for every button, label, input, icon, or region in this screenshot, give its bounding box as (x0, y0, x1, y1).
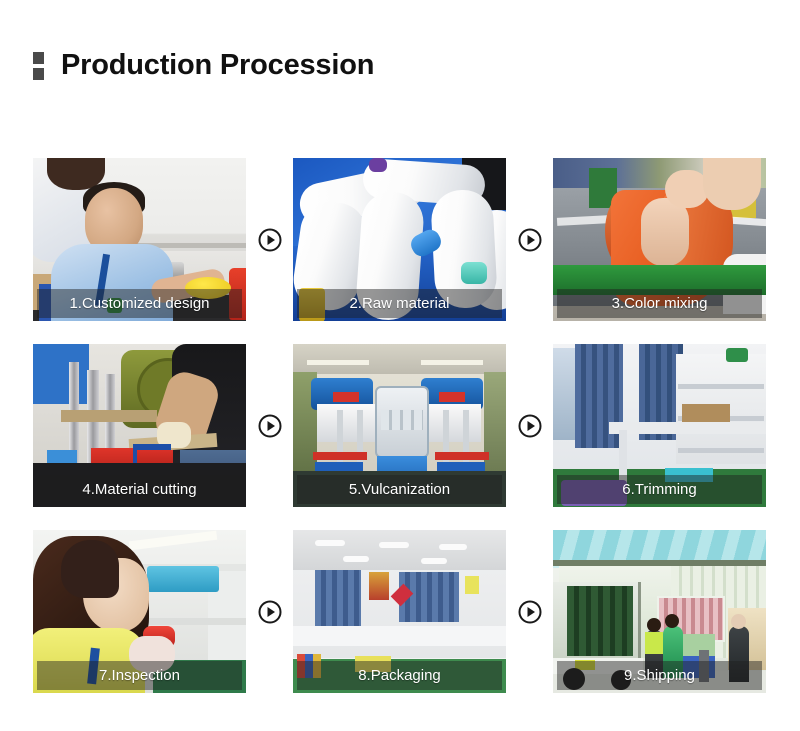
production-process-page: Production Procession 1.Customized desig… (0, 0, 800, 731)
page-header: Production Procession (33, 50, 374, 80)
process-step-card-5[interactable]: 5.Vulcanization (293, 344, 506, 507)
two-squares-icon (33, 52, 44, 80)
step-arrow-3 (246, 344, 293, 507)
step-caption-text: 3.Color mixing (612, 296, 708, 311)
process-step-card-2[interactable]: 2.Raw material (293, 158, 506, 321)
play-circle-icon (258, 228, 282, 252)
step-caption-text: 8.Packaging (358, 668, 441, 683)
play-circle-icon (518, 228, 542, 252)
process-step-card-8[interactable]: 8.Packaging (293, 530, 506, 693)
play-circle-icon (518, 414, 542, 438)
process-step-card-3[interactable]: 3.Color mixing (553, 158, 766, 321)
process-step-card-9[interactable]: 9.Shipping (553, 530, 766, 693)
step-caption: 6.Trimming (557, 475, 762, 504)
page-title: Production Procession (61, 51, 374, 80)
step-caption: 4.Material cutting (37, 475, 242, 504)
process-row-2: 4.Material cutting (33, 344, 766, 507)
process-step-card-4[interactable]: 4.Material cutting (33, 344, 246, 507)
step-arrow-5 (246, 530, 293, 693)
step-caption: 8.Packaging (297, 661, 502, 690)
step-caption: 7.Inspection (37, 661, 242, 690)
play-circle-icon (518, 600, 542, 624)
process-step-card-1[interactable]: 1.Customized design (33, 158, 246, 321)
step-caption-text: 7.Inspection (99, 668, 180, 683)
process-steps-grid: 1.Customized design (33, 158, 766, 693)
step-arrow-2 (506, 158, 553, 321)
step-caption-text: 6.Trimming (622, 482, 696, 497)
process-row-3: 7.Inspection (33, 530, 766, 693)
step-caption: 9.Shipping (557, 661, 762, 690)
step-caption: 1.Customized design (37, 289, 242, 318)
step-caption-text: 5.Vulcanization (349, 482, 450, 497)
play-circle-icon (258, 414, 282, 438)
step-caption-text: 4.Material cutting (82, 482, 196, 497)
process-row-1: 1.Customized design (33, 158, 766, 321)
step-caption-text: 9.Shipping (624, 668, 695, 683)
step-caption-text: 2.Raw material (349, 296, 449, 311)
step-caption: 3.Color mixing (557, 289, 762, 318)
play-circle-icon (258, 600, 282, 624)
process-step-card-6[interactable]: 6.Trimming (553, 344, 766, 507)
process-step-card-7[interactable]: 7.Inspection (33, 530, 246, 693)
step-arrow-4 (506, 344, 553, 507)
step-arrow-1 (246, 158, 293, 321)
step-caption: 2.Raw material (297, 289, 502, 318)
step-arrow-6 (506, 530, 553, 693)
step-caption-text: 1.Customized design (69, 296, 209, 311)
step-caption: 5.Vulcanization (297, 475, 502, 504)
